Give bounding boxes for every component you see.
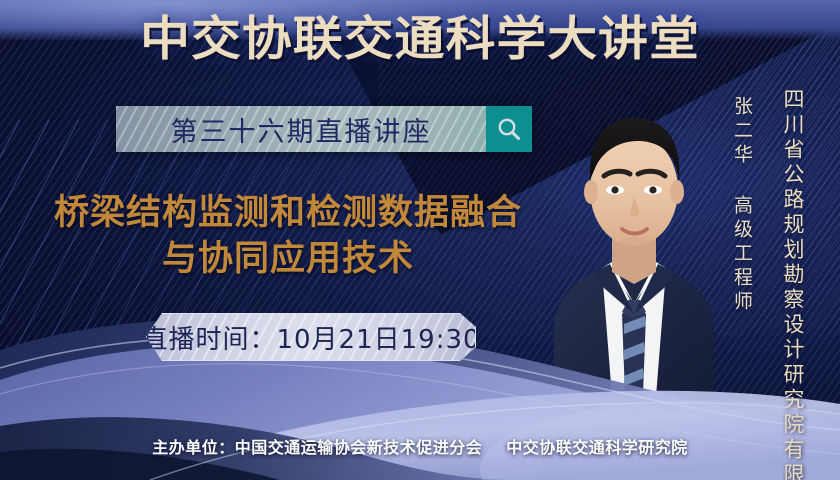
footer-organizers: 主办单位：中国交通运输协会新技术促进分会中交协联交通科学研究院: [0, 434, 840, 458]
session-banner: 第三十六期直播讲座: [116, 106, 532, 152]
session-banner-body: 第三十六期直播讲座: [116, 106, 486, 152]
lecture-topic: 桥梁结构监测和检测数据融合 与协同应用技术: [0, 190, 576, 282]
search-icon[interactable]: [486, 106, 532, 152]
lecture-topic-line2: 与协同应用技术: [0, 236, 576, 282]
webinar-poster: 中交协联交通科学大讲堂 第三十六期直播讲座 桥梁结构监测和检测数据融合 与协同应…: [0, 0, 840, 480]
lecture-topic-line1: 桥梁结构监测和检测数据融合: [54, 193, 522, 233]
footer-prefix: 主办单位：: [152, 438, 235, 457]
broadcast-time-label: 直播时间：10月21日19:30: [146, 319, 476, 356]
broadcast-time-badge: 直播时间：10月21日19:30: [146, 313, 476, 361]
footer-organizer-2: 中交协联交通科学研究院: [506, 438, 688, 457]
page-title: 中交协联交通科学大讲堂: [0, 16, 840, 63]
footer-organizer-1: 中国交通运输协会新技术促进分会: [235, 438, 483, 457]
session-label: 第三十六期直播讲座: [171, 110, 432, 149]
speaker-organization: 四川省公路规划勘察设计研究院有限公司: [778, 88, 808, 480]
speaker-name-title: 张二华 高级工程师: [729, 96, 756, 315]
